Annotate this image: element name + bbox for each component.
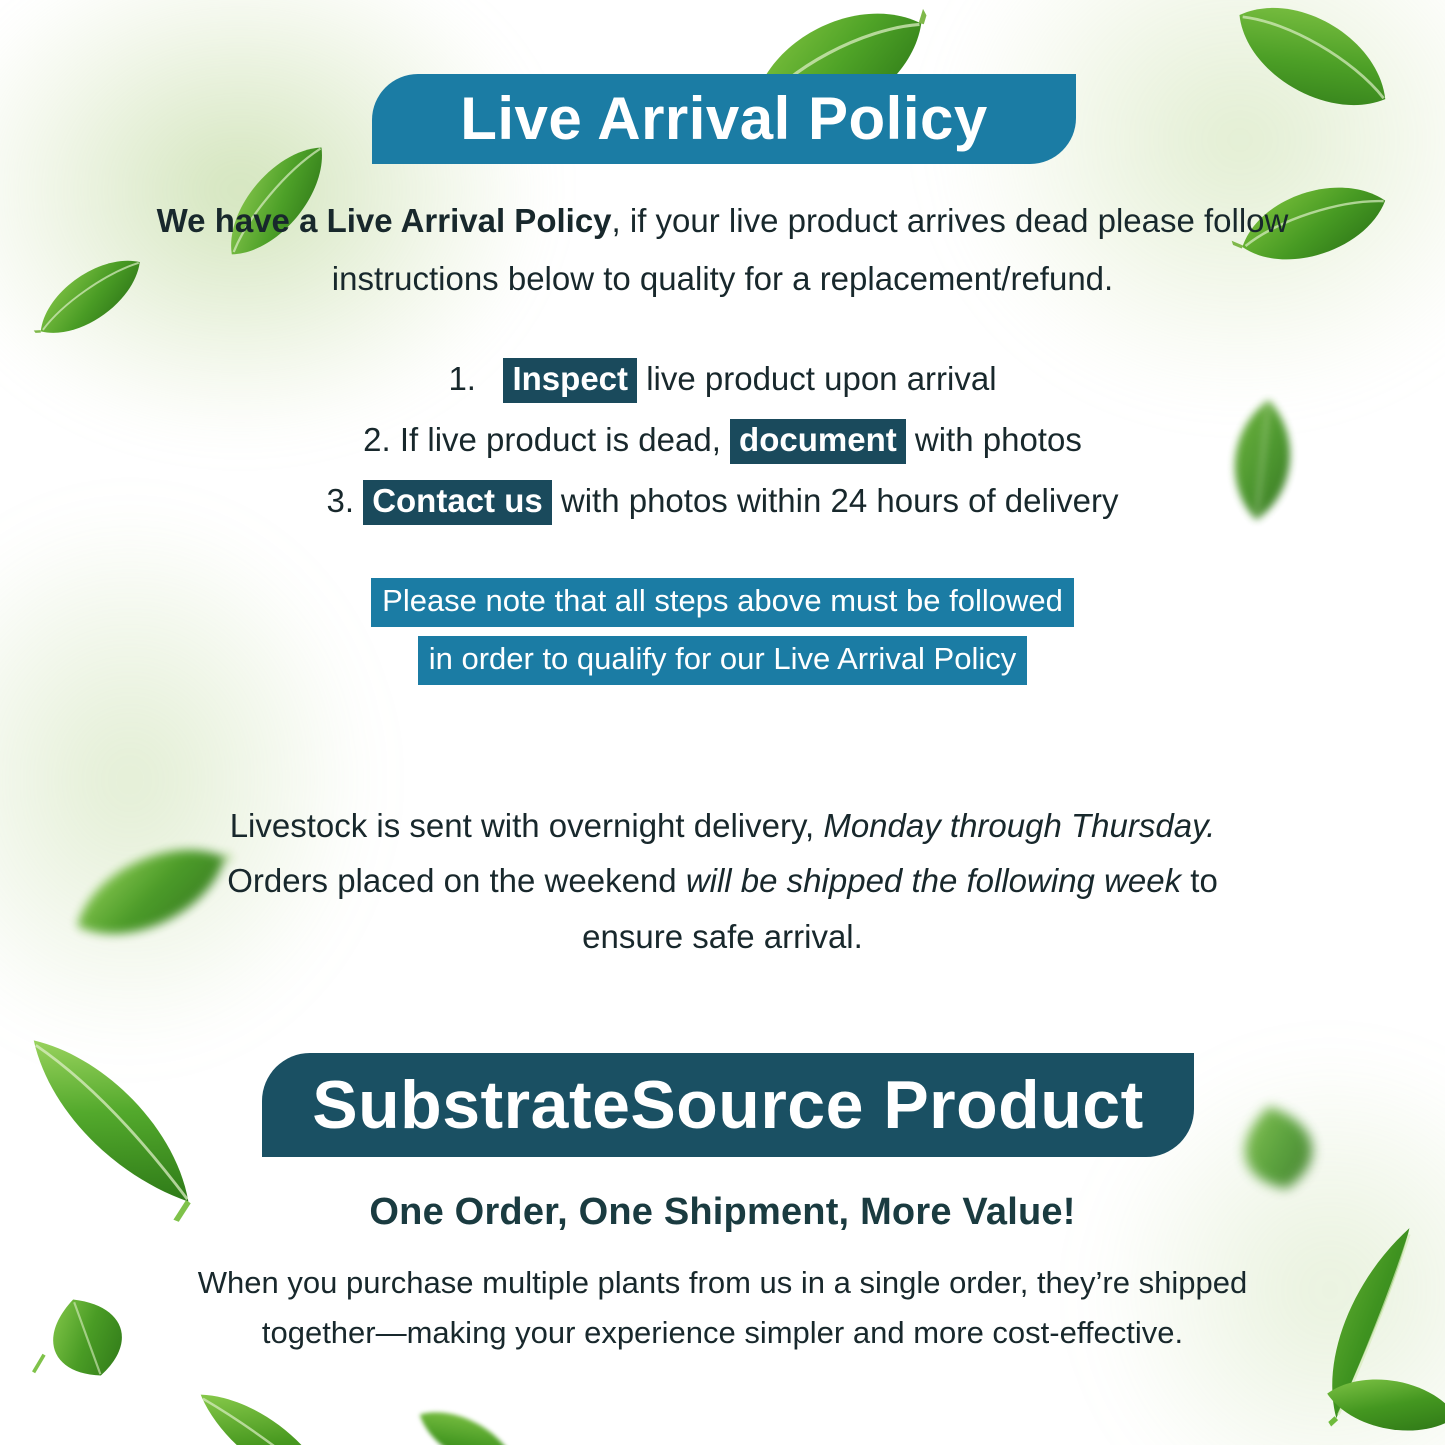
step-number: 3. [326, 482, 354, 519]
policy-note-line-1-wrap: Please note that all steps above must be… [150, 578, 1295, 627]
leaf-icon [10, 1271, 165, 1405]
leaf-icon [1314, 1344, 1445, 1445]
background-blur-mid-left [0, 430, 440, 1130]
leaf-icon [173, 1367, 362, 1445]
leaf-icon [9, 221, 168, 371]
step-highlight-document: document [730, 419, 906, 464]
policy-steps-list: 1. Inspect live product upon arrival 2. … [150, 348, 1295, 531]
leaf-icon [1209, 1089, 1346, 1207]
live-arrival-policy-title: Live Arrival Policy [460, 89, 988, 149]
value-body-paragraph: When you purchase multiple plants from u… [160, 1258, 1285, 1358]
step-highlight-contact-us[interactable]: Contact us [363, 480, 552, 525]
policy-intro-paragraph: We have a Live Arrival Policy, if your l… [150, 192, 1295, 308]
policy-step-1: 1. Inspect live product upon arrival [150, 348, 1295, 409]
shipping-line-1-italic: Monday through Thursday. [823, 807, 1215, 844]
shipping-schedule-paragraph: Livestock is sent with overnight deliver… [175, 798, 1270, 964]
shipping-line-1-plain: Livestock is sent with overnight deliver… [230, 807, 814, 844]
value-body-line-2: together—making your experience simpler … [262, 1315, 1183, 1350]
value-body-line-1: When you purchase multiple plants from u… [198, 1265, 1247, 1300]
step-highlight-inspect: Inspect [503, 358, 637, 403]
live-arrival-policy-graphic: Live Arrival Policy We have a Live Arriv… [0, 0, 1445, 1445]
policy-note-line-2-wrap: in order to qualify for our Live Arrival… [150, 636, 1295, 685]
policy-step-3: 3. Contact us with photos within 24 hour… [150, 470, 1295, 531]
value-headline: One Order, One Shipment, More Value! [150, 1191, 1295, 1234]
policy-note-line-1: Please note that all steps above must be… [371, 578, 1074, 627]
step-number: 1. [448, 360, 476, 397]
live-arrival-policy-banner: Live Arrival Policy [372, 74, 1076, 164]
policy-intro-lead: We have a Live Arrival Policy [157, 202, 612, 239]
policy-step-2: 2. If live product is dead, document wit… [150, 409, 1295, 470]
shipping-line-2-italic: will be shipped the following week [686, 862, 1181, 899]
shipping-line-2-plain: Orders placed on the weekend [227, 862, 676, 899]
step-text-before: If live product is dead, [400, 421, 721, 458]
leaf-icon [1260, 1220, 1445, 1436]
substratesource-product-banner: SubstrateSource Product [262, 1053, 1194, 1157]
step-number: 2. [363, 421, 391, 458]
substratesource-product-title: SubstrateSource Product [312, 1071, 1143, 1139]
leaf-icon [1200, 0, 1425, 158]
policy-note-line-2: in order to qualify for our Live Arrival… [418, 636, 1028, 685]
step-text: with photos [915, 421, 1082, 458]
step-text: with photos within 24 hours of delivery [561, 482, 1119, 519]
policy-note-block: Please note that all steps above must be… [150, 578, 1295, 694]
step-text: live product upon arrival [646, 360, 996, 397]
leaf-icon [398, 1378, 537, 1445]
